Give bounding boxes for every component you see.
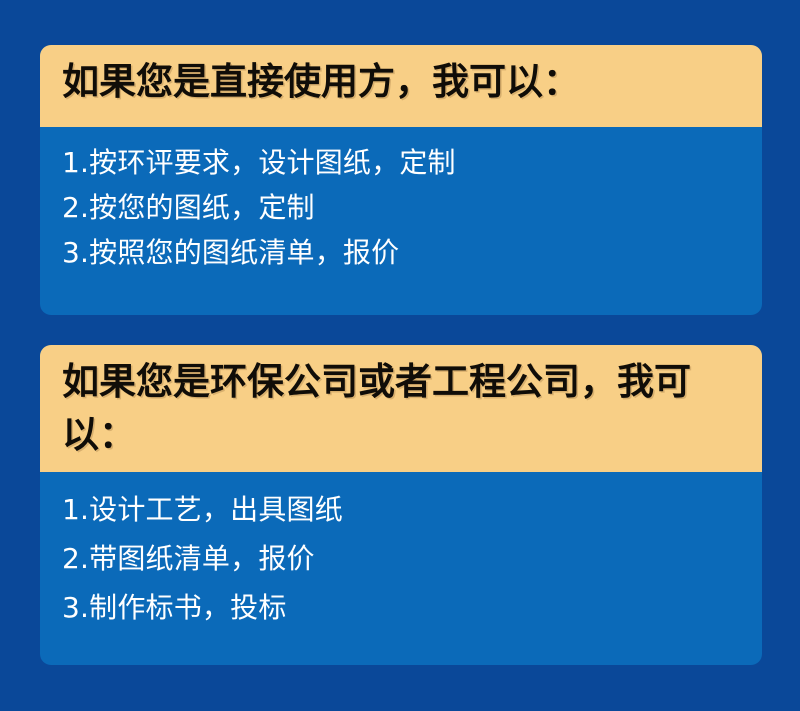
list-item: 2.按您的图纸，定制 <box>62 186 740 231</box>
card-body-direct-user: 1.按环评要求，设计图纸，定制 2.按您的图纸，定制 3.按照您的图纸清单，报价 <box>40 127 762 292</box>
card-title-company: 如果您是环保公司或者工程公司，我可以： <box>62 357 740 462</box>
card-header-company: 如果您是环保公司或者工程公司，我可以： <box>40 345 762 472</box>
card-header-direct-user: 如果您是直接使用方，我可以： <box>40 45 762 127</box>
service-list-company: 1.设计工艺，出具图纸 2.带图纸清单，报价 3.制作标书，投标 <box>62 486 740 633</box>
list-item: 1.按环评要求，设计图纸，定制 <box>62 141 740 186</box>
list-item: 2.带图纸清单，报价 <box>62 535 740 584</box>
list-item: 3.按照您的图纸清单，报价 <box>62 231 740 276</box>
service-card-company: 如果您是环保公司或者工程公司，我可以： 1.设计工艺，出具图纸 2.带图纸清单，… <box>40 345 762 665</box>
promo-banner: 如果您是直接使用方，我可以： 1.按环评要求，设计图纸，定制 2.按您的图纸，定… <box>0 0 800 711</box>
service-card-direct-user: 如果您是直接使用方，我可以： 1.按环评要求，设计图纸，定制 2.按您的图纸，定… <box>40 45 762 315</box>
service-list-direct-user: 1.按环评要求，设计图纸，定制 2.按您的图纸，定制 3.按照您的图纸清单，报价 <box>62 141 740 276</box>
card-title-direct-user: 如果您是直接使用方，我可以： <box>62 57 740 110</box>
list-item: 3.制作标书，投标 <box>62 584 740 633</box>
list-item: 1.设计工艺，出具图纸 <box>62 486 740 535</box>
card-body-company: 1.设计工艺，出具图纸 2.带图纸清单，报价 3.制作标书，投标 <box>40 472 762 649</box>
